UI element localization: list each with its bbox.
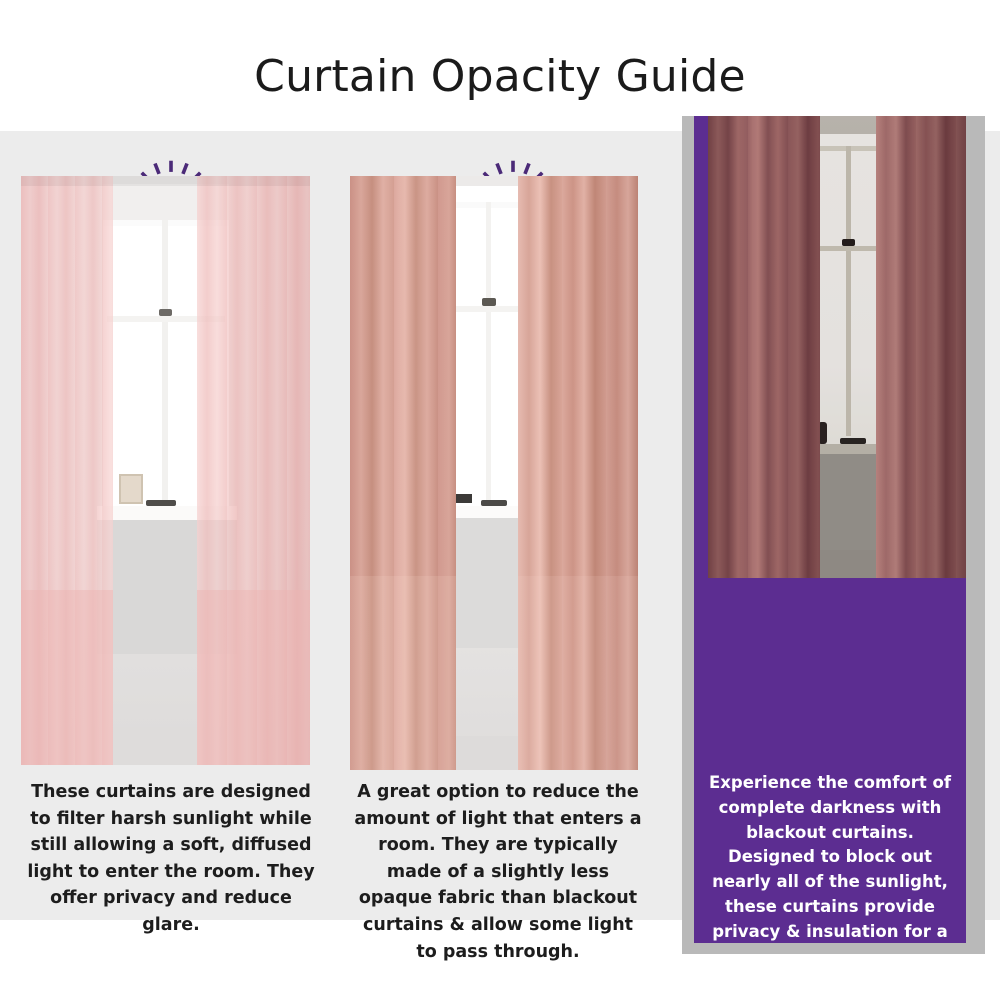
description-room-darkening: A great option to reduce the amount of l… xyxy=(352,779,644,965)
photo-blackout-curtains xyxy=(708,116,966,578)
page-title: Curtain Opacity Guide xyxy=(0,51,1000,102)
column-blackout: Blackout Experience the comfort of compl xyxy=(694,116,966,943)
description-sheer: These curtains are designed to filter ha… xyxy=(26,779,316,939)
photo-sheer-curtains xyxy=(21,176,310,765)
photo-room-darkening-curtains xyxy=(350,176,638,770)
description-blackout: Experience the comfort of complete darkn… xyxy=(702,771,958,943)
